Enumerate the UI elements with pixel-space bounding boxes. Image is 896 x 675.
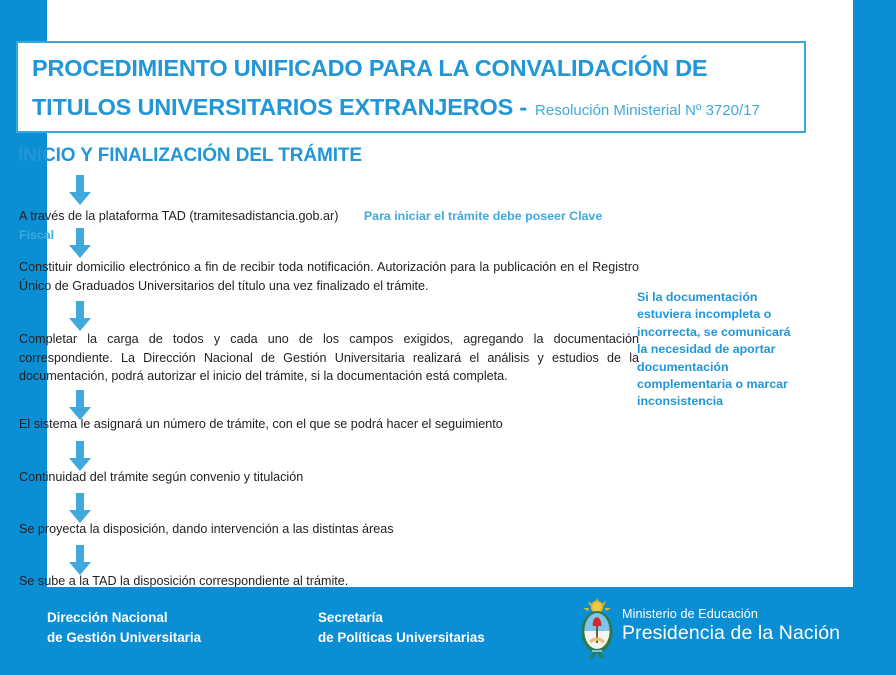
resolution-reference: Resolución Ministerial Nº 3720/17 [527,102,760,119]
flow-arrow-down-icon [68,228,92,259]
slide-root: PROCEDIMIENTO UNIFICADO PARA LA CONVALID… [0,0,896,675]
argentina-coat-of-arms-icon [575,598,619,660]
title-line-1-text: PROCEDIMIENTO UNIFICADO PARA LA CONVALID… [32,55,707,81]
ministry-line-2: Presidencia de la Nación [622,622,840,645]
footer-org-spu: Secretaría de Políticas Universitarias [318,608,485,648]
flow-step-1: A través de la plataforma TAD (tramitesa… [19,207,639,244]
page-title: INICIO Y FINALIZACIÓN DEL TRÁMITE [18,145,362,167]
title-line-2: TITULOS UNIVERSITARIOS EXTRANJEROS -Reso… [32,88,794,130]
ministry-branding: Ministerio de Educación Presidencia de l… [622,606,840,645]
flow-step-5-text: Continuidad del trámite según convenio y… [19,470,303,484]
footer-org-spu-line1: Secretaría [318,608,485,628]
flow-step-3-text: Completar la carga de todos y cada uno d… [19,332,639,383]
flow-step-7-text: Se sube a la TAD la disposición correspo… [19,574,348,588]
flow-step-6-text: Se proyecta la disposición, dando interv… [19,522,394,536]
title-line-1: PROCEDIMIENTO UNIFICADO PARA LA CONVALID… [32,49,794,88]
flow-step-4: El sistema le asignará un número de trám… [19,415,639,434]
footer-org-spu-line2: de Políticas Universitarias [318,628,485,648]
footer-org-dngu: Dirección Nacional de Gestión Universita… [47,608,201,648]
ministry-line-1: Ministerio de Educación [622,606,840,622]
flow-step-1-text: A través de la plataforma TAD (tramitesa… [19,209,338,223]
flow-step-4-text: El sistema le asignará un número de trám… [19,417,503,431]
side-note: Si la documentación estuviera incompleta… [637,289,797,411]
flow-step-3: Completar la carga de todos y cada uno d… [19,330,639,386]
title-box: PROCEDIMIENTO UNIFICADO PARA LA CONVALID… [16,41,806,133]
flow-step-2-text: Constituir domicilio electrónico a fin d… [19,260,639,293]
flow-arrow-down-icon [68,175,92,206]
flow-step-6: Se proyecta la disposición, dando interv… [19,520,639,539]
flow-step-2: Constituir domicilio electrónico a fin d… [19,258,639,295]
title-line-2-text: TITULOS UNIVERSITARIOS EXTRANJEROS - [32,94,527,120]
flow-arrow-down-icon [68,301,92,332]
flow-step-5: Continuidad del trámite según convenio y… [19,468,639,487]
footer-org-dngu-line1: Dirección Nacional [47,608,201,628]
footer-org-dngu-line2: de Gestión Universitaria [47,628,201,648]
